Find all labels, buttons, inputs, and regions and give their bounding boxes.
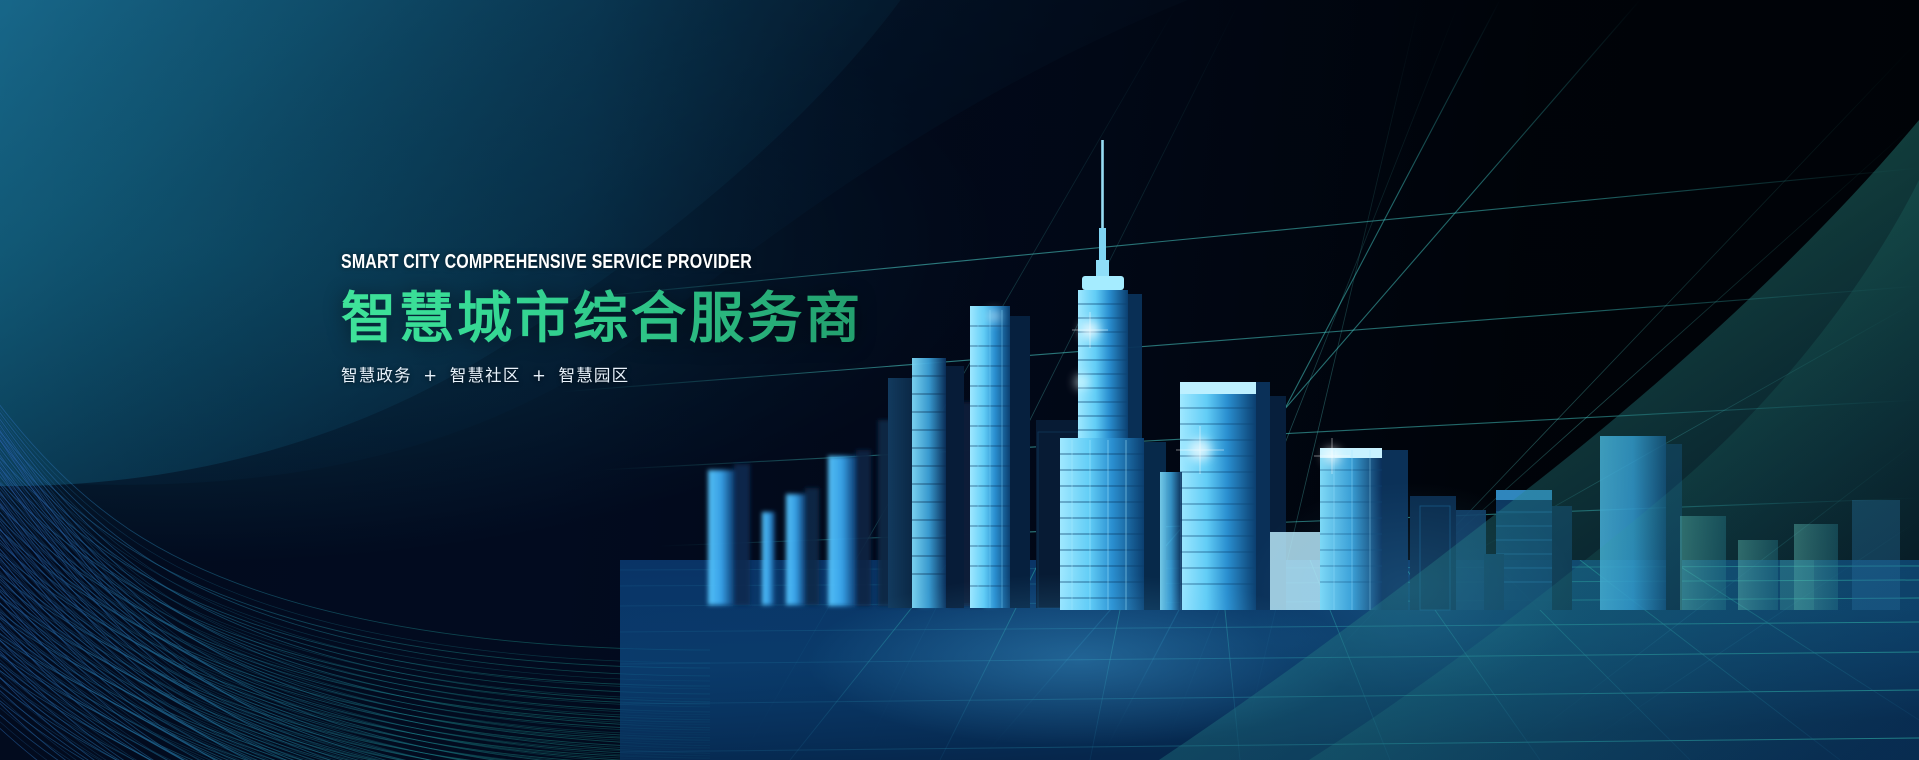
subtitle-text: 智慧政务 + 智慧社区 + 智慧园区 xyxy=(341,362,981,386)
main-tower xyxy=(1060,140,1166,610)
subtitle-separator-1: + xyxy=(418,366,443,385)
green-corner-overlay xyxy=(1159,120,1919,760)
subtitle-part-3: 智慧园区 xyxy=(559,366,630,385)
headline-block: SMART CITY COMPREHENSIVE SERVICE PROVIDE… xyxy=(341,252,981,386)
subtitle-part-2: 智慧社区 xyxy=(450,366,521,385)
subtitle-separator-2: + xyxy=(527,366,552,385)
smart-city-banner: SMART CITY COMPREHENSIVE SERVICE PROVIDE… xyxy=(0,0,1919,760)
subtitle-part-1: 智慧政务 xyxy=(341,366,412,385)
eyebrow-text: SMART CITY COMPREHENSIVE SERVICE PROVIDE… xyxy=(341,252,840,273)
page-title: 智慧城市综合服务商 xyxy=(341,289,981,348)
